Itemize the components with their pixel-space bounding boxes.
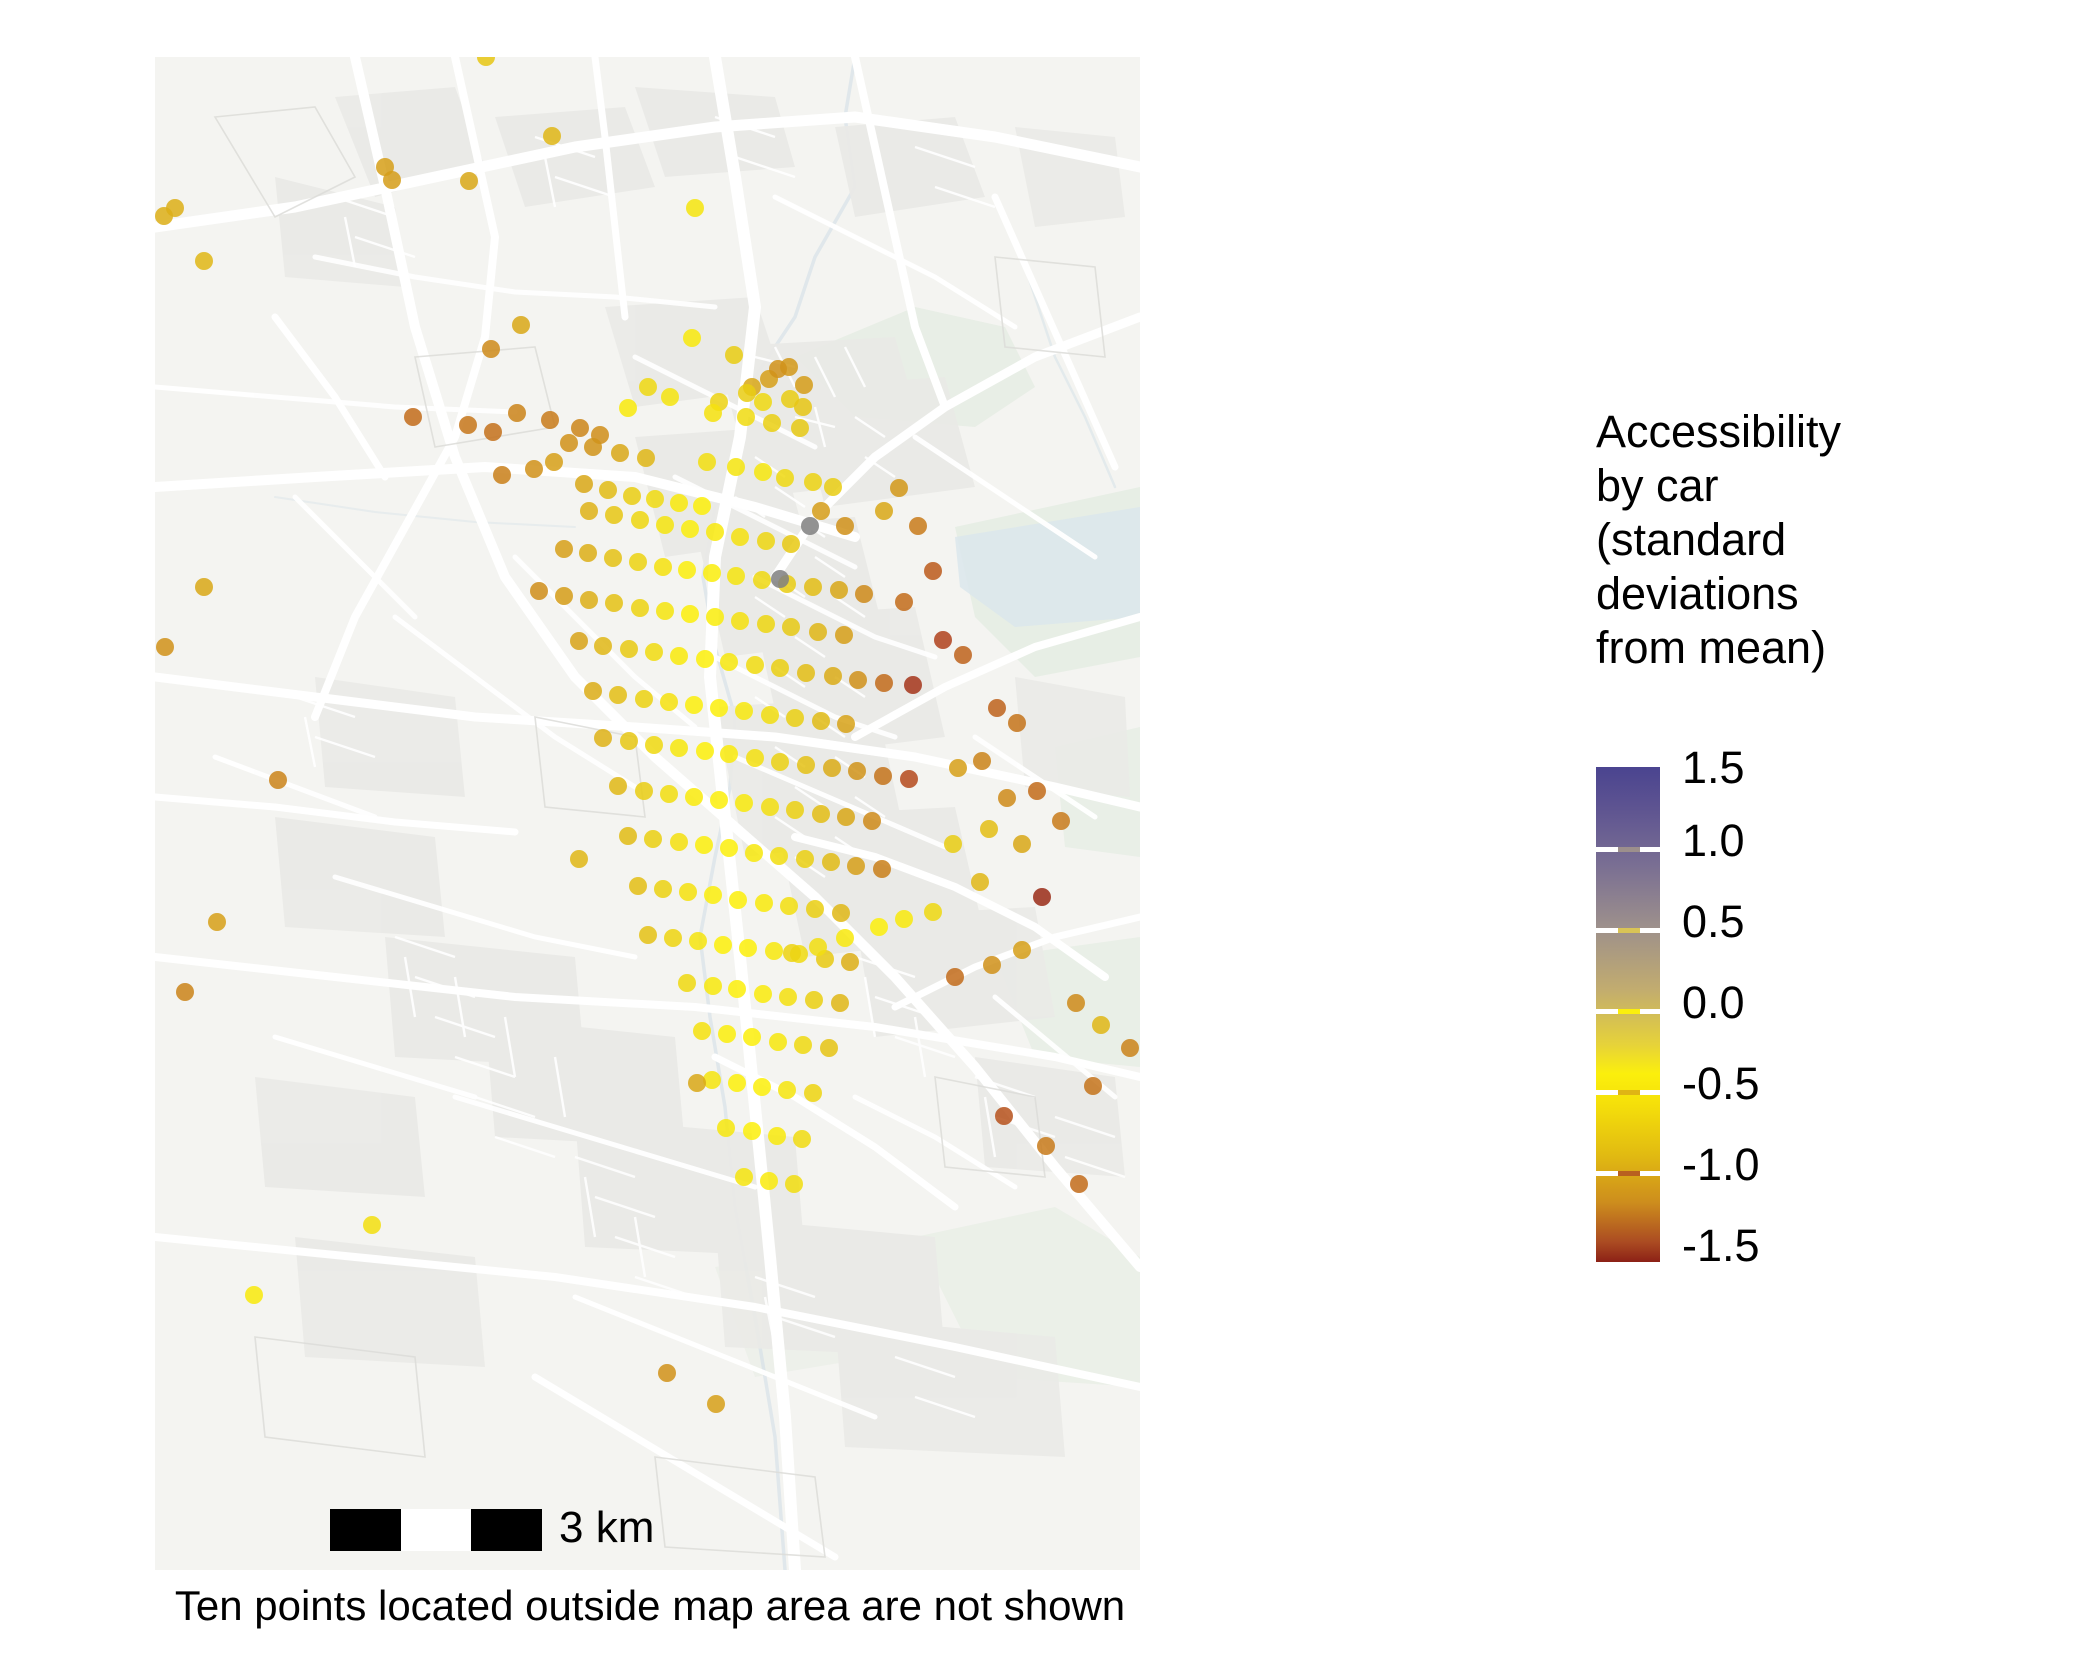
data-point <box>776 469 794 487</box>
data-point <box>988 699 1006 717</box>
data-point <box>1008 714 1026 732</box>
data-point <box>599 481 617 499</box>
data-point <box>735 702 753 720</box>
data-point <box>525 460 543 478</box>
data-point <box>837 808 855 826</box>
data-point <box>706 608 724 626</box>
data-point <box>783 944 801 962</box>
data-point <box>1013 835 1031 853</box>
data-point <box>791 419 809 437</box>
data-point <box>754 985 772 1003</box>
data-point <box>765 942 783 960</box>
data-point <box>769 1033 787 1051</box>
data-point <box>809 938 827 956</box>
scale-bar-segment <box>471 1509 542 1551</box>
data-point <box>770 847 788 865</box>
colorbar-label: 0.0 <box>1682 980 1745 1025</box>
data-point <box>735 794 753 812</box>
data-point <box>696 742 714 760</box>
data-point <box>594 637 612 655</box>
data-point <box>686 199 704 217</box>
data-point <box>746 749 764 767</box>
data-point <box>971 873 989 891</box>
data-point <box>795 376 813 394</box>
data-point <box>545 453 563 471</box>
data-point <box>890 479 908 497</box>
data-point <box>717 1119 735 1137</box>
data-point <box>584 682 602 700</box>
data-point <box>761 706 779 724</box>
data-point <box>812 502 830 520</box>
map-panel[interactable]: 3 km <box>155 57 1140 1570</box>
data-point <box>778 1081 796 1099</box>
data-point <box>753 1078 771 1096</box>
data-point <box>560 434 578 452</box>
data-point <box>620 732 638 750</box>
data-point <box>1028 782 1046 800</box>
data-point <box>1033 888 1051 906</box>
data-point <box>530 582 548 600</box>
data-point <box>605 506 623 524</box>
data-point <box>654 558 672 576</box>
data-point <box>754 463 772 481</box>
data-point <box>660 785 678 803</box>
data-point <box>685 788 703 806</box>
data-point <box>739 939 757 957</box>
data-point <box>980 820 998 838</box>
data-point <box>1121 1039 1139 1057</box>
data-point <box>760 1172 778 1190</box>
data-point <box>1092 1016 1110 1034</box>
scale-bar-label: 3 km <box>559 1504 654 1552</box>
colorbar-label: -0.5 <box>1682 1061 1760 1106</box>
legend-title-line: by car <box>1596 459 1996 513</box>
data-point <box>678 561 696 579</box>
data-point <box>404 408 422 426</box>
data-point <box>629 553 647 571</box>
scale-bar-segment <box>401 1509 472 1551</box>
data-point <box>681 520 699 538</box>
data-point <box>855 585 873 603</box>
data-point <box>1052 812 1070 830</box>
data-point <box>166 199 184 217</box>
data-point <box>753 571 771 589</box>
data-point <box>835 626 853 644</box>
data-point <box>720 839 738 857</box>
data-point <box>176 983 194 1001</box>
data-point <box>794 1036 812 1054</box>
data-point <box>493 466 511 484</box>
data-point <box>998 789 1016 807</box>
data-point <box>836 517 854 535</box>
data-point <box>688 1074 706 1092</box>
data-point <box>383 171 401 189</box>
data-point <box>656 602 674 620</box>
data-point <box>737 408 755 426</box>
data-point <box>763 414 781 432</box>
legend-title-line: from mean) <box>1596 621 1996 675</box>
data-point <box>735 1168 753 1186</box>
data-point <box>768 1127 786 1145</box>
data-point <box>208 913 226 931</box>
data-point <box>710 791 728 809</box>
data-point <box>609 777 627 795</box>
data-point <box>555 587 573 605</box>
data-point <box>771 659 789 677</box>
colorbar-label: -1.5 <box>1682 1223 1760 1268</box>
data-point <box>631 599 649 617</box>
data-point <box>796 850 814 868</box>
data-point <box>754 393 772 411</box>
data-point <box>609 686 627 704</box>
data-point <box>670 739 688 757</box>
data-point <box>727 567 745 585</box>
data-point <box>704 404 722 422</box>
data-point <box>571 419 589 437</box>
data-point <box>654 880 672 898</box>
legend-title-line: Accessibility <box>1596 405 1996 459</box>
data-point <box>812 712 830 730</box>
data-point <box>779 988 797 1006</box>
colorbar-label: -1.0 <box>1682 1142 1760 1187</box>
data-point <box>645 643 663 661</box>
data-point <box>725 346 743 364</box>
data-point <box>824 478 842 496</box>
data-point <box>809 623 827 641</box>
data-point <box>693 1022 711 1040</box>
data-point <box>729 891 747 909</box>
data-point <box>720 745 738 763</box>
data-point <box>731 612 749 630</box>
data-point <box>696 650 714 668</box>
data-point <box>870 918 888 936</box>
data-point <box>983 956 1001 974</box>
data-point <box>769 360 787 378</box>
data-point <box>954 646 972 664</box>
data-point <box>804 578 822 596</box>
data-point <box>873 860 891 878</box>
data-point <box>1070 1175 1088 1193</box>
data-point <box>746 656 764 674</box>
data-point <box>718 1025 736 1043</box>
figure-caption: Ten points located outside map area are … <box>0 1581 1300 1631</box>
scale-bar-segment <box>330 1509 401 1551</box>
data-point <box>623 487 641 505</box>
data-point <box>727 458 745 476</box>
data-point <box>895 593 913 611</box>
data-point <box>646 490 664 508</box>
data-point <box>656 516 674 534</box>
data-point <box>670 647 688 665</box>
data-point <box>946 968 964 986</box>
data-point <box>685 696 703 714</box>
data-point <box>973 752 991 770</box>
data-point <box>644 830 662 848</box>
data-point <box>611 444 629 462</box>
data-point <box>706 523 724 541</box>
data-point <box>594 729 612 747</box>
data-point <box>512 316 530 334</box>
data-point <box>847 857 865 875</box>
data-point <box>195 252 213 270</box>
data-point <box>645 736 663 754</box>
data-point <box>620 640 638 658</box>
data-point <box>797 664 815 682</box>
data-point <box>679 883 697 901</box>
data-point <box>841 953 859 971</box>
data-point <box>661 388 679 406</box>
colorbar-tick-gap <box>1618 928 1640 933</box>
data-point <box>874 767 892 785</box>
data-point <box>875 502 893 520</box>
data-point <box>1037 1137 1055 1155</box>
data-point <box>949 759 967 777</box>
data-point <box>605 594 623 612</box>
data-point <box>804 473 822 491</box>
data-point <box>786 709 804 727</box>
data-point <box>695 836 713 854</box>
data-point <box>670 833 688 851</box>
data-point <box>836 929 854 947</box>
data-point <box>1067 994 1085 1012</box>
data-point <box>832 904 850 922</box>
data-point <box>731 528 749 546</box>
data-point <box>830 581 848 599</box>
data-point <box>728 980 746 998</box>
data-point <box>909 517 927 535</box>
data-point <box>849 671 867 689</box>
scale-bar <box>330 1509 542 1551</box>
data-point <box>629 877 647 895</box>
data-point <box>743 1028 761 1046</box>
data-point <box>785 1175 803 1193</box>
data-point <box>804 1084 822 1102</box>
data-point <box>782 535 800 553</box>
data-point <box>822 853 840 871</box>
data-point <box>580 591 598 609</box>
data-point <box>863 812 881 830</box>
data-point <box>681 605 699 623</box>
data-point <box>924 903 942 921</box>
data-point <box>837 715 855 733</box>
data-point <box>570 632 588 650</box>
data-point <box>459 416 477 434</box>
data-point <box>156 638 174 656</box>
data-point <box>995 1107 1013 1125</box>
data-point <box>660 693 678 711</box>
data-point <box>757 532 775 550</box>
legend-title-line: deviations <box>1596 567 1996 621</box>
data-point <box>904 676 922 694</box>
data-point <box>812 805 830 823</box>
colorbar-label: 1.5 <box>1682 745 1745 790</box>
data-point <box>924 562 942 580</box>
data-point <box>1013 941 1031 959</box>
data-point <box>761 798 779 816</box>
data-point <box>541 411 559 429</box>
data-point <box>637 449 655 467</box>
colorbar-label: 0.5 <box>1682 899 1745 944</box>
data-point <box>635 782 653 800</box>
data-point <box>944 835 962 853</box>
data-point <box>703 564 721 582</box>
data-point <box>900 770 918 788</box>
data-point <box>704 886 722 904</box>
data-point <box>875 674 893 692</box>
colorbar-tick-gap <box>1618 847 1640 852</box>
data-point <box>584 438 602 456</box>
data-point <box>728 1074 746 1092</box>
data-point <box>786 801 804 819</box>
colorbar-tick-gap <box>1618 1090 1640 1095</box>
colorbar-group[interactable]: 1.5 1.0 0.5 0.0 -0.5 -1.0 -1.5 <box>1596 755 1996 1285</box>
data-point <box>508 404 526 422</box>
data-point <box>848 762 866 780</box>
colorbar-gradient[interactable] <box>1596 767 1660 1262</box>
data-point <box>794 398 812 416</box>
data-point <box>619 827 637 845</box>
data-point <box>806 900 824 918</box>
data-point <box>934 631 952 649</box>
data-point <box>689 932 707 950</box>
legend-title-line: (standard <box>1596 513 1996 567</box>
data-point <box>707 1395 725 1413</box>
data-point <box>820 1039 838 1057</box>
data-point <box>195 578 213 596</box>
data-point <box>670 494 688 512</box>
colorbar-tick-gap <box>1618 1009 1640 1014</box>
data-point <box>460 172 478 190</box>
data-point <box>1084 1077 1102 1095</box>
data-point <box>619 399 637 417</box>
data-point <box>664 929 682 947</box>
data-point <box>895 910 913 928</box>
data-point <box>580 502 598 520</box>
data-point <box>755 894 773 912</box>
data-point <box>639 378 657 396</box>
data-point <box>579 544 597 562</box>
data-point <box>363 1216 381 1234</box>
data-point <box>710 699 728 717</box>
data-point <box>771 753 789 771</box>
data-point <box>570 850 588 868</box>
data-point <box>757 615 775 633</box>
data-point <box>639 926 657 944</box>
data-point <box>797 756 815 774</box>
data-point <box>793 1130 811 1148</box>
data-point <box>805 991 823 1009</box>
data-point <box>543 127 561 145</box>
data-point <box>477 57 495 66</box>
data-point <box>720 653 738 671</box>
data-point <box>780 897 798 915</box>
data-points-layer <box>155 57 1140 1570</box>
data-point <box>575 475 593 493</box>
data-point <box>743 1122 761 1140</box>
legend-title: Accessibility by car (standard deviation… <box>1596 405 1996 675</box>
data-point <box>831 994 849 1012</box>
data-point-na <box>801 517 819 535</box>
data-point <box>714 936 732 954</box>
data-point <box>704 977 722 995</box>
data-point <box>698 453 716 471</box>
data-point <box>782 618 800 636</box>
data-point <box>824 667 842 685</box>
data-point <box>693 497 711 515</box>
data-point <box>631 511 649 529</box>
data-point <box>683 329 701 347</box>
data-point <box>635 690 653 708</box>
data-point <box>269 771 287 789</box>
data-point <box>604 549 622 567</box>
data-point <box>482 340 500 358</box>
data-point <box>658 1364 676 1382</box>
data-point <box>484 423 502 441</box>
data-point <box>823 759 841 777</box>
legend: Accessibility by car (standard deviation… <box>1596 405 2066 675</box>
colorbar-tick-gap <box>1618 1171 1640 1176</box>
data-point <box>678 974 696 992</box>
colorbar-label: 1.0 <box>1682 818 1745 863</box>
data-point <box>555 540 573 558</box>
data-point <box>245 1286 263 1304</box>
data-point <box>745 844 763 862</box>
